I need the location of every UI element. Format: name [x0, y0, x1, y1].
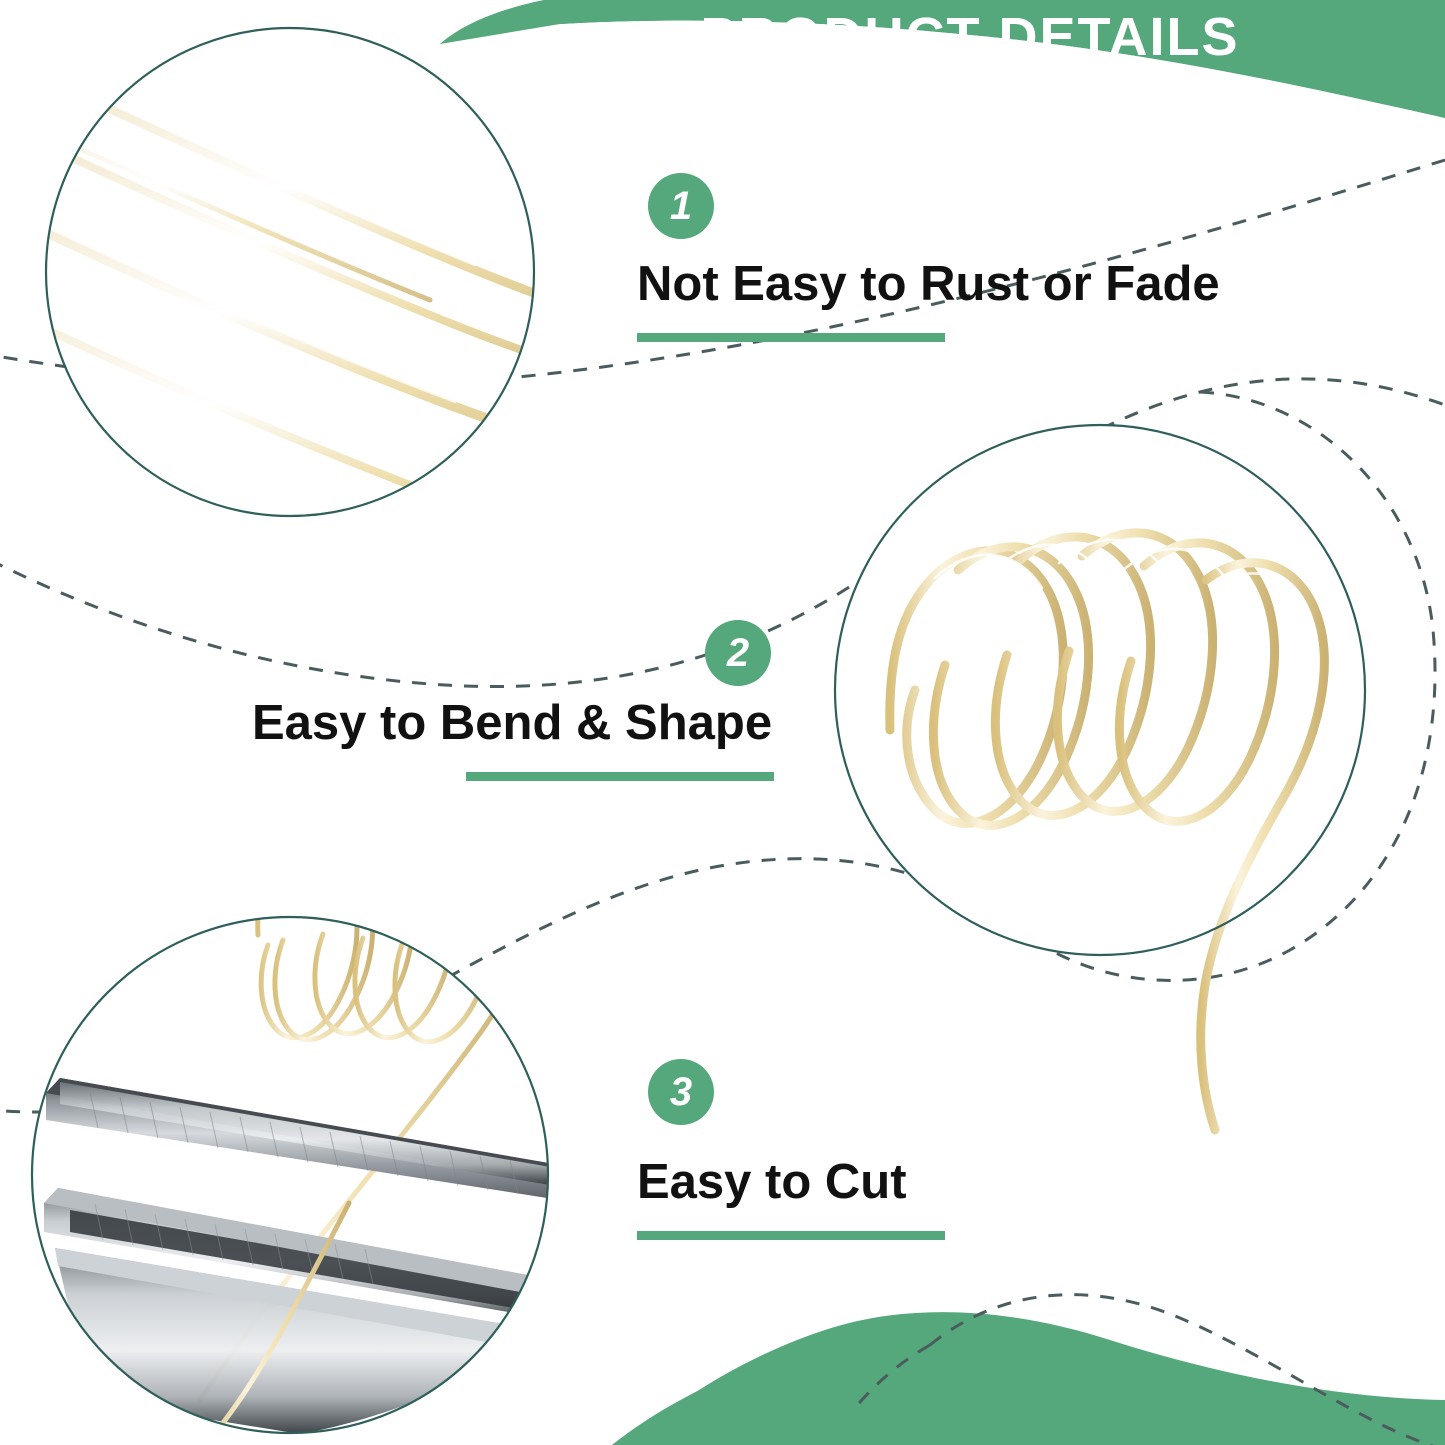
step-2-number-badge: 2: [705, 620, 771, 686]
step-2-underline: [466, 772, 774, 781]
step-3-number-badge: 3: [648, 1059, 714, 1125]
step-1-title: Not Easy to Rust or Fade: [637, 260, 1220, 309]
page-title: PRODUCT DETAILS: [620, 8, 1320, 67]
step-1-number-badge: 1: [648, 173, 714, 239]
step-3-title: Easy to Cut: [637, 1158, 907, 1207]
product-details-infographic: PRODUCT DETAILS 1 Not Easy to Rust or Fa…: [0, 0, 1445, 1445]
step-3-underline: [637, 1231, 945, 1240]
content-layer: PRODUCT DETAILS 1 Not Easy to Rust or Fa…: [0, 0, 1445, 1445]
step-2-title: Easy to Bend & Shape: [252, 699, 772, 748]
step-1-underline: [637, 333, 945, 342]
